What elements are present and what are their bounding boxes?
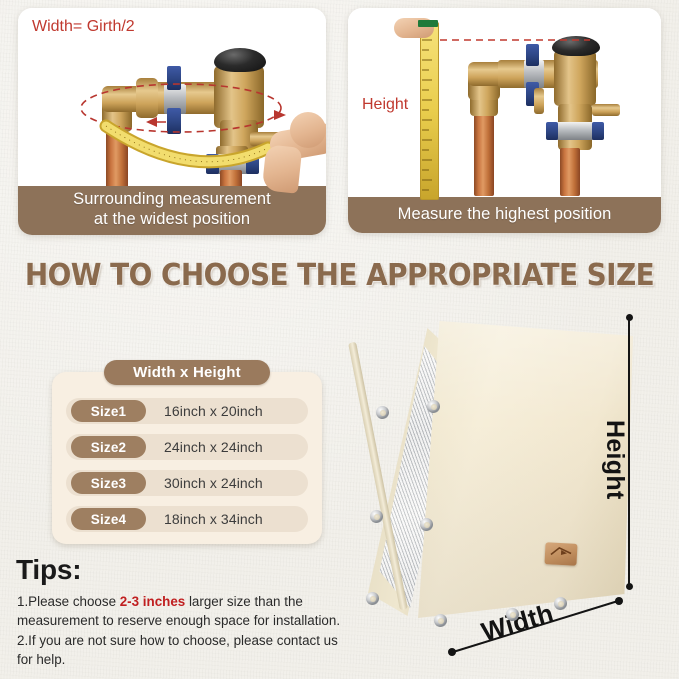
tip-1-prefix: 1.Please choose xyxy=(17,594,120,609)
caption-line-2: at the widest position xyxy=(73,210,271,229)
infographic-stage: Width= Girth/2 xyxy=(0,0,679,679)
size-label: Size2 xyxy=(71,436,146,458)
grommet xyxy=(420,518,433,531)
table-row: Size2 24inch x 24inch xyxy=(66,434,308,460)
grommet xyxy=(506,608,519,621)
size-dimensions: 18inch x 34inch xyxy=(164,506,263,532)
table-row: Size4 18inch x 34inch xyxy=(66,506,308,532)
size-dimensions: 30inch x 24inch xyxy=(164,470,263,496)
height-dimension-dot-bottom xyxy=(626,583,633,590)
size-label: Size1 xyxy=(71,400,146,422)
page-title: HOW TO CHOOSE THE APPROPRIATE SIZE xyxy=(24,258,655,298)
brand-logo-patch xyxy=(544,542,577,566)
size-dimensions: 16inch x 20inch xyxy=(164,398,263,424)
tips-body: 1.Please choose 2-3 inches larger size t… xyxy=(17,592,352,670)
size-label: Size3 xyxy=(71,472,146,494)
top-reference-dashed-line xyxy=(348,8,661,198)
tip-1-highlight: 2-3 inches xyxy=(120,594,186,609)
size-label: Size4 xyxy=(71,508,146,530)
grommet xyxy=(434,614,447,627)
photo-panel-highest-position: Height xyxy=(348,8,661,233)
height-dimension-label: Height xyxy=(600,420,629,500)
hand-left xyxy=(262,144,303,194)
size-table-header: Width x Height xyxy=(104,360,270,385)
grommet xyxy=(427,400,440,413)
ruler-ticks xyxy=(420,22,440,198)
size-table-card: Size1 16inch x 20inch Size2 24inch x 24i… xyxy=(52,372,322,544)
tip-2: 2.If you are not sure how to choose, ple… xyxy=(17,633,338,667)
caption-highest-position: Measure the highest position xyxy=(348,197,661,233)
grommet xyxy=(376,406,389,419)
caption-line-1: Measure the highest position xyxy=(398,205,612,224)
grommet xyxy=(370,510,383,523)
table-row: Size1 16inch x 20inch xyxy=(66,398,308,424)
tips-title: Tips: xyxy=(16,554,81,586)
size-dimensions: 24inch x 24inch xyxy=(164,434,263,460)
height-dimension-dot-top xyxy=(626,314,633,321)
table-row: Size3 30inch x 24inch xyxy=(66,470,308,496)
photo-panel-surrounding-measurement: Width= Girth/2 xyxy=(18,8,326,235)
grommet xyxy=(366,592,379,605)
logo-mark-icon xyxy=(550,545,573,560)
ruler-end-clip xyxy=(418,20,438,27)
grommet xyxy=(554,597,567,610)
thumb xyxy=(290,112,326,148)
